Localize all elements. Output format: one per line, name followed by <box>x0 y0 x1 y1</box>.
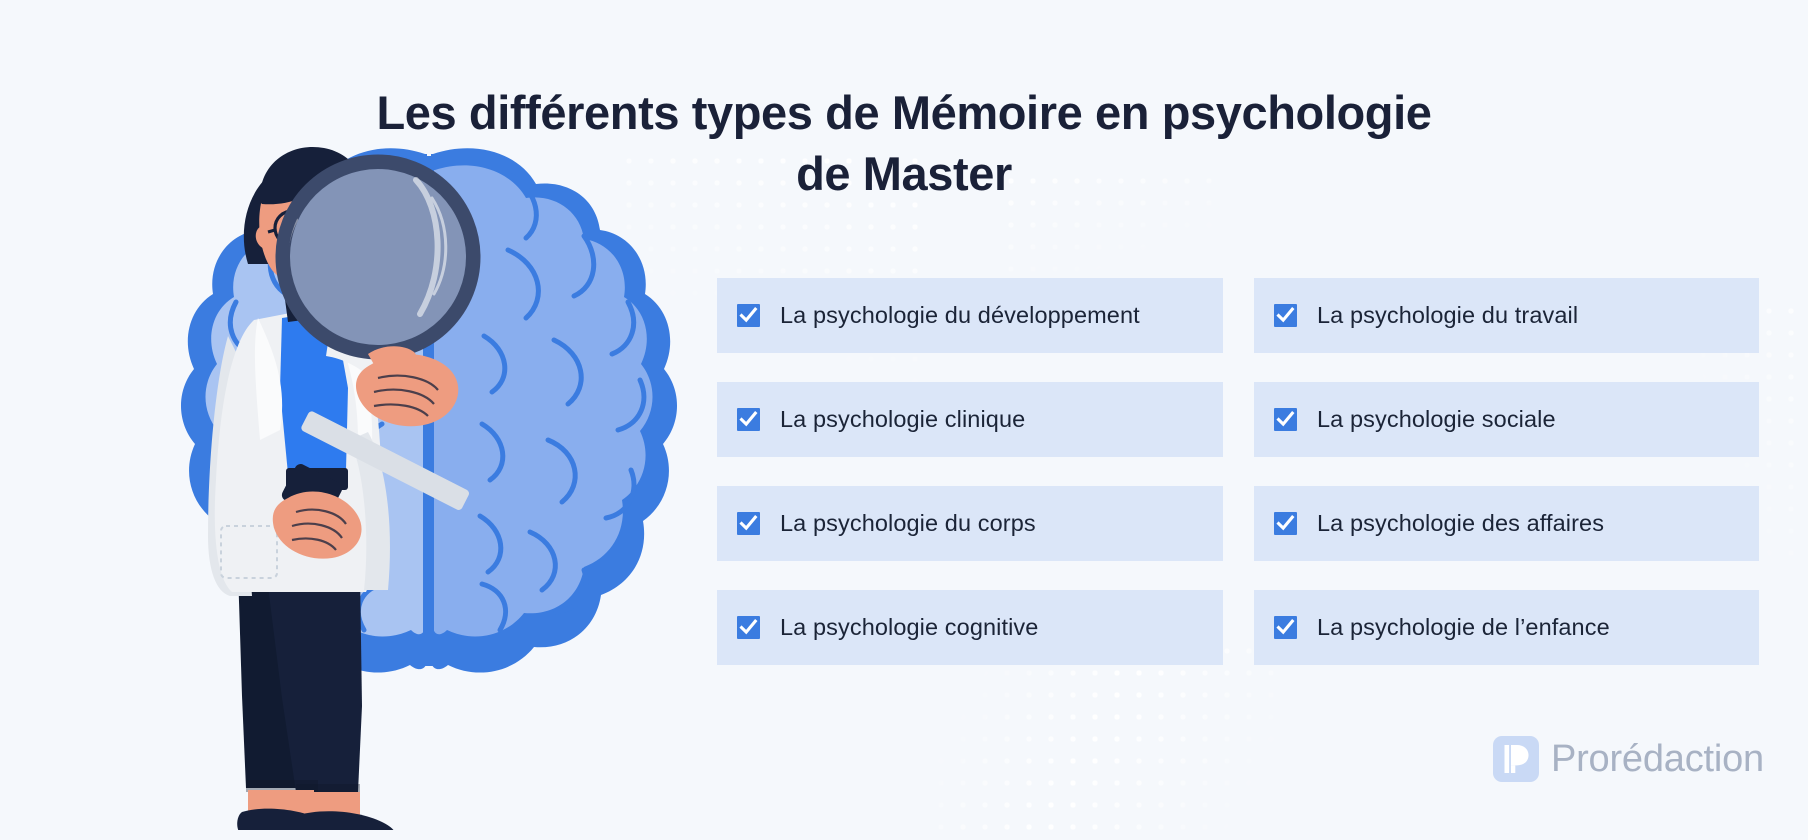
checklist-item-label: La psychologie du développement <box>780 304 1140 328</box>
checklist-column-left: La psychologie du développement La psych… <box>717 278 1223 665</box>
woman-figure <box>208 147 480 830</box>
checkbox-checked-icon[interactable] <box>1274 512 1297 535</box>
checklist-item[interactable]: La psychologie du développement <box>717 278 1223 353</box>
shoe-front <box>292 811 396 830</box>
page-title-line-1: Les différents types de Mémoire en psych… <box>376 86 1431 139</box>
checkbox-checked-icon[interactable] <box>1274 616 1297 639</box>
checklist-item[interactable]: La psychologie du travail <box>1254 278 1759 353</box>
checklist-item[interactable]: La psychologie de l’enfance <box>1254 590 1759 665</box>
checklist-item-label: La psychologie de l’enfance <box>1317 616 1610 640</box>
checkbox-checked-icon[interactable] <box>737 616 760 639</box>
checklist-item-label: La psychologie du travail <box>1317 304 1578 328</box>
brand-logo[interactable]: Prorédaction <box>1493 736 1764 782</box>
checklist-item-label: La psychologie sociale <box>1317 408 1556 432</box>
infographic-canvas: Les différents types de Mémoire en psych… <box>0 0 1808 840</box>
checkbox-checked-icon[interactable] <box>737 304 760 327</box>
proredaction-logo-icon <box>1493 736 1539 782</box>
checkbox-checked-icon[interactable] <box>737 408 760 431</box>
brand-logo-text: Prorédaction <box>1551 738 1764 781</box>
woman-with-magnifying-glass-and-brain-illustration <box>120 140 760 830</box>
checklist-item[interactable]: La psychologie cognitive <box>717 590 1223 665</box>
checklist-column-right: La psychologie du travail La psychologie… <box>1254 278 1759 665</box>
checkbox-checked-icon[interactable] <box>737 512 760 535</box>
checklist-item-label: La psychologie cognitive <box>780 616 1038 640</box>
checkbox-checked-icon[interactable] <box>1274 408 1297 431</box>
checkbox-checked-icon[interactable] <box>1274 304 1297 327</box>
checklist-item-label: La psychologie des affaires <box>1317 512 1604 536</box>
page-title: Les différents types de Mémoire en psych… <box>274 83 1534 203</box>
checklist-item[interactable]: La psychologie des affaires <box>1254 486 1759 561</box>
checklist-item-label: La psychologie du corps <box>780 512 1036 536</box>
checklist-item-label: La psychologie clinique <box>780 408 1025 432</box>
halftone-dots-decoration <box>930 640 1290 840</box>
checklist-item[interactable]: La psychologie du corps <box>717 486 1223 561</box>
checklist-item[interactable]: La psychologie sociale <box>1254 382 1759 457</box>
checklist-item[interactable]: La psychologie clinique <box>717 382 1223 457</box>
page-title-line-2: de Master <box>796 147 1012 200</box>
